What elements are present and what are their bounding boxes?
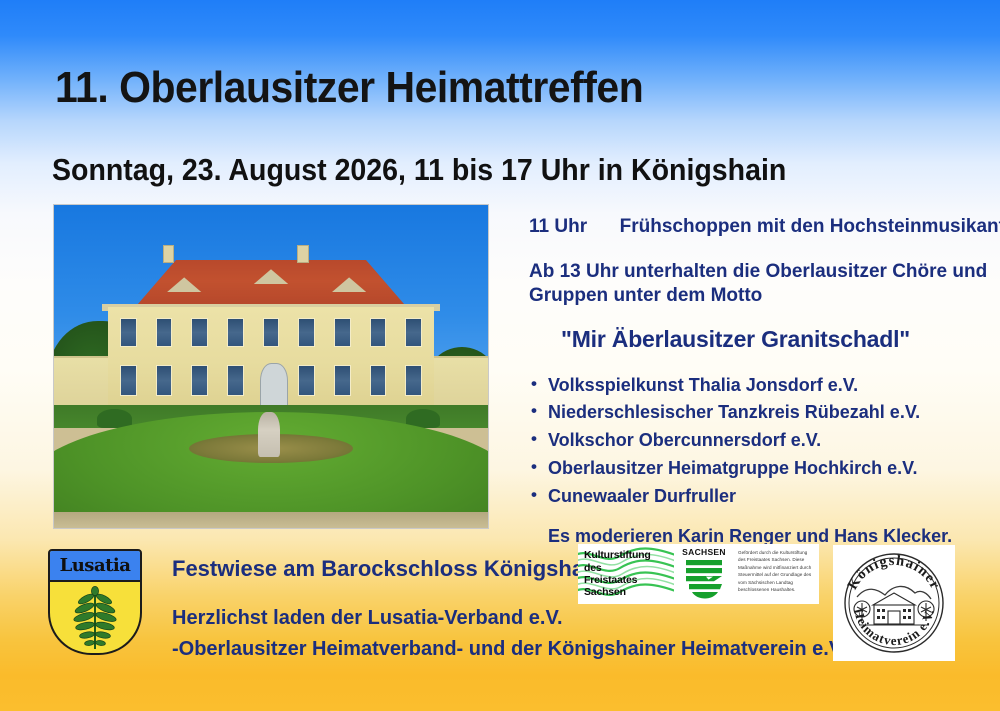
photo-window xyxy=(191,318,208,347)
list-item: Volkschor Obercunnersdorf e.V. xyxy=(529,427,989,455)
kulturstiftung-sachsen-logo: Kulturstiftung des Freistaates Sachsen xyxy=(578,544,674,604)
photo-window xyxy=(405,318,422,347)
program-afternoon-block: Ab 13 Uhr unterhalten die Oberlausitzer … xyxy=(529,260,989,309)
photo-window xyxy=(298,365,315,396)
page-subtitle: Sonntag, 23. August 2026, 11 bis 17 Uhr … xyxy=(52,152,786,188)
program-afternoon-line-1: Ab 13 Uhr unterhalten die Oberlausitzer … xyxy=(529,260,989,284)
photo-window xyxy=(334,318,351,347)
photo-window xyxy=(298,318,315,347)
photo-window xyxy=(370,318,387,347)
photo-entrance-door xyxy=(260,363,288,407)
koenigshainer-heimatverein-seal: Königshainer Heimatverein e.V. xyxy=(833,545,955,661)
barockschloss-koenigshain-photo xyxy=(53,204,489,529)
program-morning-time: 11 Uhr xyxy=(529,216,587,237)
invitation-line-2: -Oberlausitzer Heimatverband- und der Kö… xyxy=(172,638,846,661)
program-morning-event: Frühschoppen mit den Hochsteinmusikanten xyxy=(620,216,1000,237)
sponsor-strip: Kulturstiftung des Freistaates Sachsen S… xyxy=(578,544,819,604)
photo-window xyxy=(263,318,280,347)
photo-chimney-left xyxy=(163,245,175,263)
photo-window xyxy=(156,318,173,347)
kulturstiftung-line-2: des xyxy=(584,562,651,574)
photo-window xyxy=(334,365,351,396)
photo-foreground-ground xyxy=(54,512,488,528)
program-afternoon-line-2: Gruppen unter dem Motto xyxy=(529,284,989,308)
photo-window xyxy=(120,365,137,396)
photo-window xyxy=(191,365,208,396)
photo-chimney-right xyxy=(297,245,309,263)
program-motto: "Mir Äberlausitzer Granitschadl" xyxy=(561,326,989,353)
photo-window xyxy=(120,318,137,347)
sachsen-shield-icon xyxy=(682,557,726,601)
lusatia-coat-of-arms: Lusatia xyxy=(48,549,142,655)
shield-name-band: Lusatia xyxy=(50,551,140,582)
kulturstiftung-wordmark: Kulturstiftung des Freistaates Sachsen xyxy=(578,549,651,599)
participating-groups-list: Volksspielkunst Thalia Jonsdorf e.V. Nie… xyxy=(529,372,989,511)
list-item: Niederschlesischer Tanzkreis Rübezahl e.… xyxy=(529,399,989,427)
kulturstiftung-line-3: Freistaates xyxy=(584,574,651,586)
page-title: 11. Oberlausitzer Heimattreffen xyxy=(55,63,643,113)
invitation-line-1: Herzlichst laden der Lusatia-Verband e.V… xyxy=(172,607,846,630)
sachsen-label: SACHSEN xyxy=(682,547,726,557)
seal-graphic: Königshainer Heimatverein e.V. xyxy=(833,545,955,661)
funding-note: Gefördert durch die Kulturstiftung des F… xyxy=(734,544,819,604)
photo-window xyxy=(227,365,244,396)
list-item: Volksspielkunst Thalia Jonsdorf e.V. xyxy=(529,372,989,400)
list-item: Oberlausitzer Heimatgruppe Hochkirch e.V… xyxy=(529,455,989,483)
photo-fountain xyxy=(258,412,280,457)
program-morning-line: 11 Uhr Frühschoppen mit den Hochsteinmus… xyxy=(529,216,989,238)
fern-icon xyxy=(72,585,118,651)
poster-canvas: 11. Oberlausitzer Heimattreffen Sonntag,… xyxy=(0,0,1000,711)
program-column: 11 Uhr Frühschoppen mit den Hochsteinmus… xyxy=(529,216,989,547)
kulturstiftung-line-4: Sachsen xyxy=(584,586,651,598)
photo-window xyxy=(370,365,387,396)
freistaat-sachsen-logo: SACHSEN xyxy=(674,544,734,604)
shield-body: Lusatia xyxy=(48,549,142,655)
photo-window-row-upper xyxy=(110,318,431,347)
photo-window xyxy=(156,365,173,396)
shield-name-text: Lusatia xyxy=(60,555,131,576)
kulturstiftung-line-1: Kulturstiftung xyxy=(584,549,651,561)
photo-window xyxy=(405,365,422,396)
list-item: Cunewaaler Durfruller xyxy=(529,483,989,511)
photo-window xyxy=(227,318,244,347)
